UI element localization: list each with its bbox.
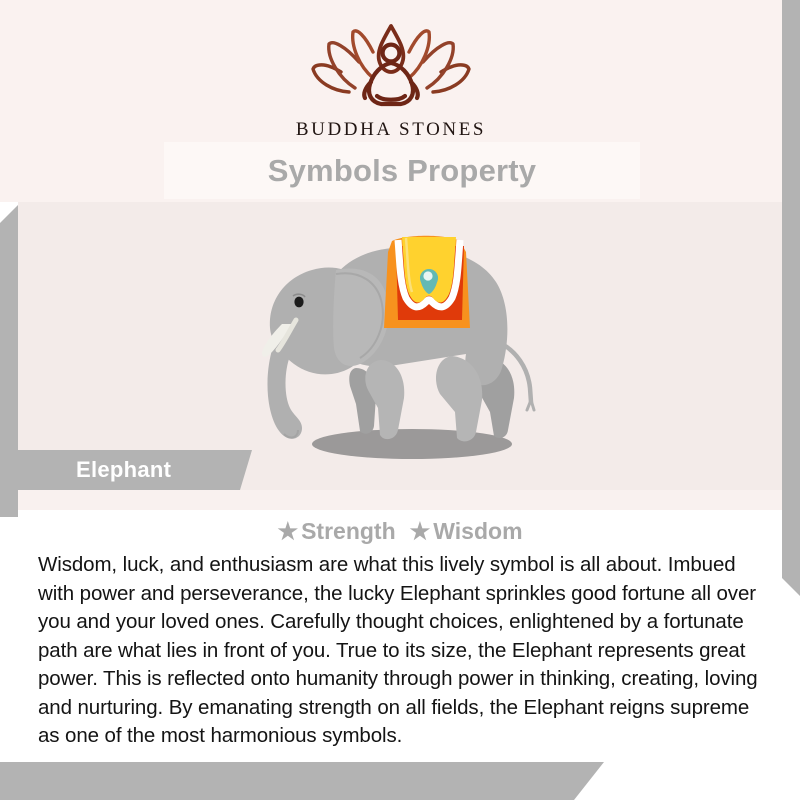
frame-bar-bottom [0,762,604,800]
frame-bar-right [782,30,800,596]
walking-elephant-illustration-icon [240,216,570,482]
brand-logo: BUDDHA STONES [0,22,782,141]
symbol-name-banner: Elephant [18,450,252,490]
symbol-name: Elephant [76,457,171,483]
illustration-panel [18,202,782,490]
symbol-property-card: BUDDHA STONES Symbols Property [0,0,800,800]
symbol-attributes: ★Strength★Wisdom [38,514,762,548]
symbol-description-text: Wisdom, luck, and enthusiasm are what th… [38,551,762,751]
frame-bar-left [0,205,18,517]
title-band: Symbols Property [164,142,640,199]
star-icon: ★ [410,518,431,544]
page-title: Symbols Property [268,153,537,189]
lotus-meditation-logo-icon [303,22,479,114]
attribute-label: Strength [301,518,396,544]
star-icon: ★ [277,518,298,544]
attribute-label: Wisdom [433,518,522,544]
attribute-wisdom: ★Wisdom [410,514,523,548]
symbol-description-area: ★Strength★Wisdom Wisdom, luck, and enthu… [18,510,782,762]
brand-name: BUDDHA STONES [296,119,486,141]
attribute-strength: ★Strength [277,514,395,548]
divider-strip [18,490,782,510]
